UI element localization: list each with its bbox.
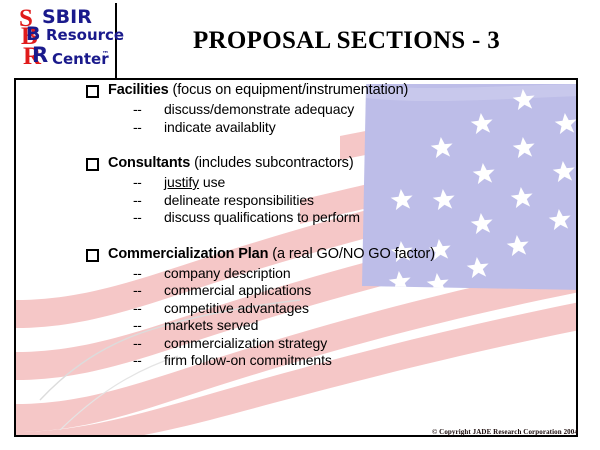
- hollow-square-checkbox-icon: [86, 249, 99, 262]
- list-item: --markets served: [0, 317, 600, 335]
- list-item: --indicate availablity: [0, 119, 600, 137]
- list-item-label: company description: [164, 265, 291, 281]
- dash-marker: --: [133, 265, 141, 283]
- dash-marker: --: [133, 282, 141, 300]
- dash-marker: --: [133, 119, 141, 137]
- section-subitems: --justify use --delineate responsibiliti…: [0, 174, 600, 227]
- section-commercialization-plan: Commercialization Plan (a real GO/NO GO …: [0, 246, 600, 370]
- section-heading: Facilities (focus on equipment/instrumen…: [0, 82, 600, 99]
- dash-marker: --: [133, 317, 141, 335]
- dash-marker: --: [133, 101, 141, 119]
- list-item: --company description: [0, 265, 600, 283]
- presentation-slide: S B R SBIR B Resource R Center ™ PROPOSA…: [0, 0, 600, 450]
- section-heading: Consultants (includes subcontractors): [0, 155, 600, 172]
- section-subitems: --discuss/demonstrate adequacy --indicat…: [0, 101, 600, 136]
- logo-resource-text: Resource: [46, 28, 124, 43]
- list-item: --justify use: [0, 174, 600, 192]
- section-title: Consultants: [108, 155, 190, 171]
- list-item-label: markets served: [164, 317, 258, 333]
- list-item-label: indicate availablity: [164, 119, 276, 135]
- logo-center-text: Center: [52, 52, 109, 67]
- list-item-label: competitive advantages: [164, 300, 309, 316]
- section-consultants: Consultants (includes subcontractors) --…: [0, 155, 600, 227]
- section-title: Facilities: [108, 82, 169, 98]
- dash-marker: --: [133, 300, 141, 318]
- list-item: --commercialization strategy: [0, 335, 600, 353]
- dash-marker: --: [133, 174, 141, 192]
- hollow-square-checkbox-icon: [86, 158, 99, 171]
- slide-title: PROPOSAL SECTIONS - 3: [117, 3, 576, 78]
- list-item-label: discuss qualifications to perform: [164, 209, 360, 225]
- section-subitems: --company description --commercial appli…: [0, 265, 600, 370]
- section-facilities: Facilities (focus on equipment/instrumen…: [0, 82, 600, 136]
- section-note: (a real GO/NO GO factor): [268, 246, 435, 262]
- dash-marker: --: [133, 192, 141, 210]
- dash-marker: --: [133, 209, 141, 227]
- logo-trademark-symbol: ™: [102, 50, 109, 58]
- list-item-label: use: [199, 174, 225, 190]
- section-note: (includes subcontractors): [190, 155, 353, 171]
- section-heading: Commercialization Plan (a real GO/NO GO …: [0, 246, 600, 263]
- list-item: --commercial applications: [0, 282, 600, 300]
- list-item: --delineate responsibilities: [0, 192, 600, 210]
- list-item: --firm follow-on commitments: [0, 352, 600, 370]
- list-item: --discuss qualifications to perform: [0, 209, 600, 227]
- section-title: Commercialization Plan: [108, 246, 268, 262]
- list-item-label: commercialization strategy: [164, 335, 327, 351]
- logo-sbir-text: SBIR: [42, 8, 92, 27]
- logo-blue-b-letter: B: [26, 25, 40, 44]
- list-item-label: discuss/demonstrate adequacy: [164, 101, 354, 117]
- section-note: (focus on equipment/instrumentation): [169, 82, 409, 98]
- sbir-resource-center-logo: S B R SBIR B Resource R Center ™: [18, 4, 114, 78]
- slide-body-content: Facilities (focus on equipment/instrumen…: [0, 82, 600, 389]
- dash-marker: --: [133, 352, 141, 370]
- copyright-notice: © Copyright JADE Research Corporation 20…: [432, 428, 578, 436]
- list-item: --discuss/demonstrate adequacy: [0, 101, 600, 119]
- list-item-label: delineate responsibilities: [164, 192, 314, 208]
- logo-blue-r-letter: R: [32, 45, 48, 66]
- dash-marker: --: [133, 335, 141, 353]
- list-item-label: commercial applications: [164, 282, 311, 298]
- list-item-label: firm follow-on commitments: [164, 352, 332, 368]
- hollow-square-checkbox-icon: [86, 85, 99, 98]
- list-item-emphasis: justify: [164, 174, 199, 190]
- list-item: --competitive advantages: [0, 300, 600, 318]
